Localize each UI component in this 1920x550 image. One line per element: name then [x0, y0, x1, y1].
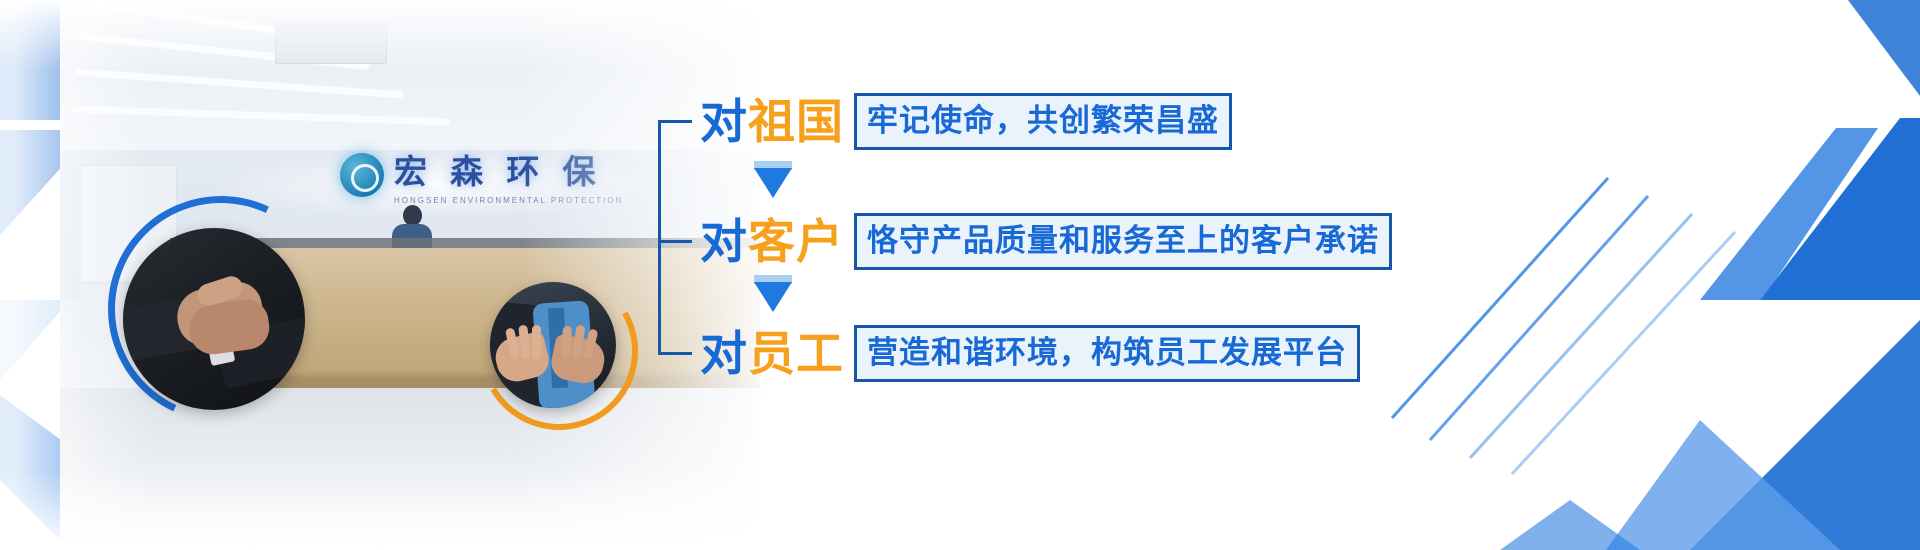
deco-right-line-3	[1470, 214, 1692, 458]
statement-label-customer: 对客户	[700, 218, 844, 265]
statement-keyword-employee: 员工	[748, 327, 844, 380]
statement-label-employee: 对员工	[700, 330, 844, 377]
deco-right-bottom-3	[1500, 500, 1640, 550]
bracket-tick-country	[658, 120, 692, 123]
applause-photo	[490, 282, 616, 408]
deco-right-top	[1848, 0, 1920, 96]
statement-row-employee: 对员工 营造和谐环境，构筑员工发展平台	[658, 324, 1360, 382]
bracket-tick-employee	[658, 352, 692, 355]
statement-keyword-country: 祖国	[748, 95, 844, 148]
value-banner: 宏 森 环 保 HONGSEN ENVIRONMENTAL PROTECTION	[0, 0, 1920, 550]
statement-phrase-employee: 营造和谐环境，构筑员工发展平台	[854, 325, 1360, 382]
company-logo-icon	[340, 153, 384, 197]
handshake-photo	[123, 228, 305, 410]
statement-label-country: 对祖国	[700, 98, 844, 145]
statement-prefix-customer: 对	[700, 215, 748, 268]
statement-phrase-country: 牢记使命，共创繁荣昌盛	[854, 93, 1232, 150]
statement-keyword-customer: 客户	[748, 215, 844, 268]
statement-rows: 对祖国 牢记使命，共创繁荣昌盛 对客户 恪守产品质量和服务至上的客户承诺 对员工…	[650, 0, 1470, 550]
statements-block: 对祖国 牢记使命，共创繁荣昌盛 对客户 恪守产品质量和服务至上的客户承诺 对员工…	[650, 0, 1470, 550]
statement-prefix-employee: 对	[700, 327, 748, 380]
statement-phrase-customer: 恪守产品质量和服务至上的客户承诺	[854, 213, 1392, 270]
statement-row-customer: 对客户 恪守产品质量和服务至上的客户承诺	[658, 212, 1392, 270]
bracket-tick-customer	[658, 240, 692, 243]
statement-row-country: 对祖国 牢记使命，共创繁荣昌盛	[658, 92, 1232, 150]
statement-prefix-country: 对	[700, 95, 748, 148]
